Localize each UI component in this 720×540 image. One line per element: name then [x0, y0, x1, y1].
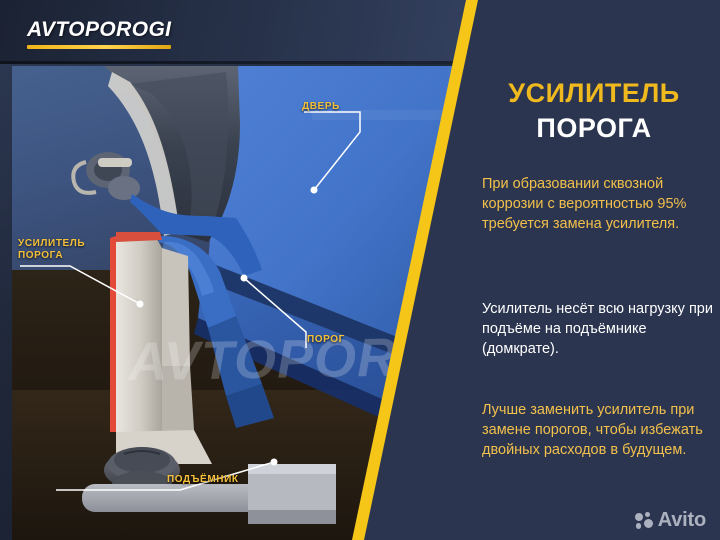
panel-paragraph-3: Лучше заменить усилитель при замене поро…: [482, 400, 720, 460]
panel-paragraph-1: При образовании сквозной коррозии с веро…: [482, 174, 720, 234]
brand-logo-underline: [27, 45, 171, 49]
panel-title-line1: УСИЛИТЕЛЬ: [468, 78, 720, 109]
avito-logo-icon: [635, 512, 654, 529]
avito-watermark: Avito: [635, 509, 706, 532]
panel-title-line2: ПОРОГА: [468, 113, 720, 144]
brand-logo: AVTOPOROGI: [27, 18, 171, 49]
brand-logo-text: AVTOPOROGI: [27, 18, 171, 42]
text-panel: УСИЛИТЕЛЬ ПОРОГА При образовании сквозно…: [468, 0, 720, 540]
panel-paragraph-2: Усилитель несёт всю нагрузку при подъёме…: [482, 299, 720, 359]
promo-banner: AVTOPOROGI AVTOPOROGI УСИЛИТЕЛЬ ПОРОГА Д…: [0, 0, 720, 540]
avito-wordmark: Avito: [658, 509, 706, 532]
